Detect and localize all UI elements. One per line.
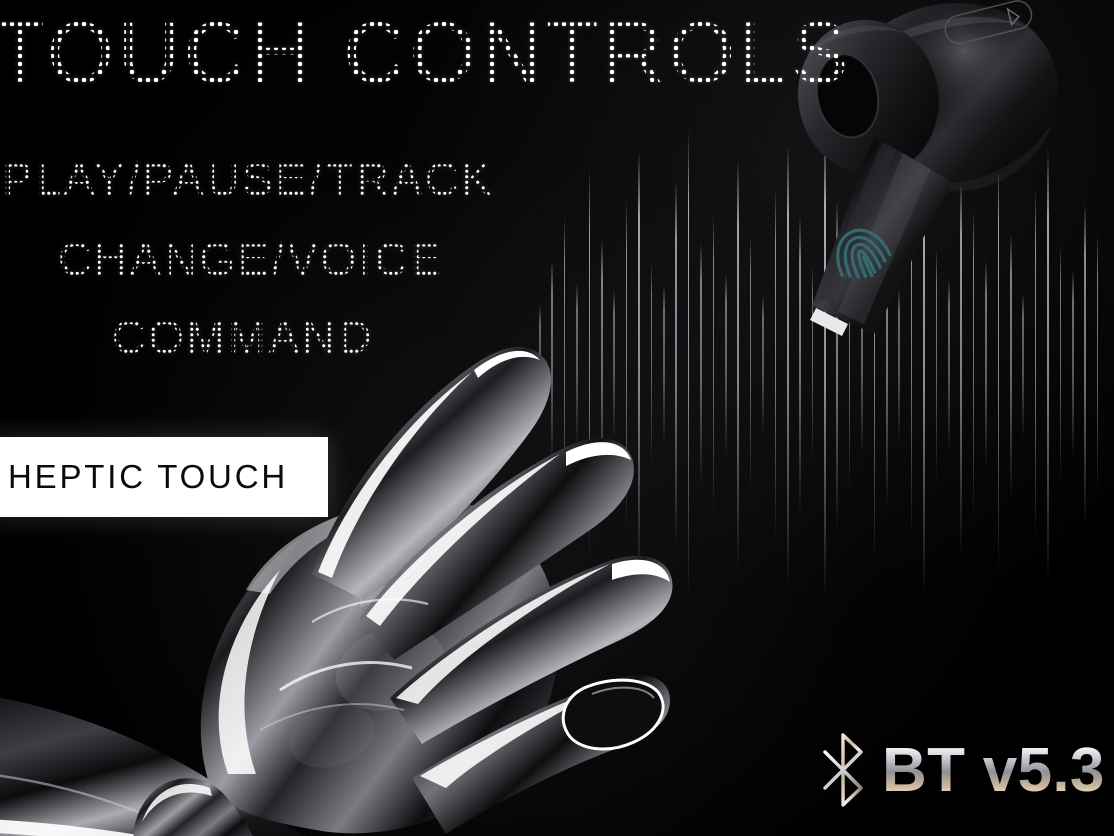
waveform-bar [849,238,851,493]
waveform-bar [824,130,826,600]
subtitle-line-2: CHANGE/VOICE [58,232,444,286]
bluetooth-icon [818,731,868,809]
waveform-bar [663,285,665,445]
waveform-bar [613,290,615,440]
heptic-touch-badge: HEPTIC TOUCH [0,437,328,517]
waveform-bar [713,215,715,515]
waveform-bar [601,238,603,493]
waveform-bar [651,263,653,468]
waveform-bar [576,283,578,448]
waveform-bar [948,278,950,453]
waveform-bar [725,273,727,458]
waveform-bar [1060,245,1062,485]
waveform-bar [1084,203,1086,528]
waveform-bar [1035,188,1037,543]
audio-waveform [536,130,1106,600]
waveform-bar [923,135,925,595]
poster-canvas: TOUCH CONTROLS PLAY/PAUSE/TRACK CHANGE/V… [0,0,1114,836]
waveform-bar [737,160,739,570]
waveform-bar [911,193,913,538]
background-glow [0,0,1114,836]
waveform-bar [551,260,553,470]
waveform-bar [688,130,690,600]
waveform-bar [861,275,863,455]
bluetooth-version-badge: BT v5.3 [818,728,1105,812]
waveform-bar [787,145,789,585]
waveform-bar [1022,293,1024,438]
waveform-bar [762,295,764,435]
waveform-bar [564,215,566,515]
waveform-bar [998,158,1000,573]
waveform-bar [874,165,876,565]
waveform-bar [1010,233,1012,498]
sensor-detail-icon [942,0,1034,46]
waveform-bar [799,215,801,515]
waveform-bar [750,235,752,495]
waveform-bar [886,220,888,510]
waveform-bar [985,260,987,470]
waveform-bar [960,175,962,555]
subtitle-line-1: PLAY/PAUSE/TRACK [2,152,494,206]
waveform-bar [973,210,975,520]
heptic-touch-badge-label: HEPTIC TOUCH [0,458,288,496]
waveform-bar [589,168,591,563]
fingerprint-icon [828,222,895,287]
page-title: TOUCH CONTROLS [0,4,852,103]
waveform-bar [1097,233,1099,498]
subtitle-line-3: COMMAND [112,310,374,364]
waveform-bar [1072,270,1074,460]
waveform-bar [812,265,814,465]
waveform-bar [539,305,541,425]
waveform-bar [775,188,777,543]
waveform-bar [898,288,900,443]
waveform-bar [1047,150,1049,580]
waveform-bar [836,200,838,530]
waveform-bar [675,180,677,550]
waveform-bar [936,248,938,483]
bluetooth-version-label: BT v5.3 [882,735,1105,806]
waveform-bar [700,243,702,488]
waveform-bar [626,200,628,530]
waveform-bar [638,150,640,580]
